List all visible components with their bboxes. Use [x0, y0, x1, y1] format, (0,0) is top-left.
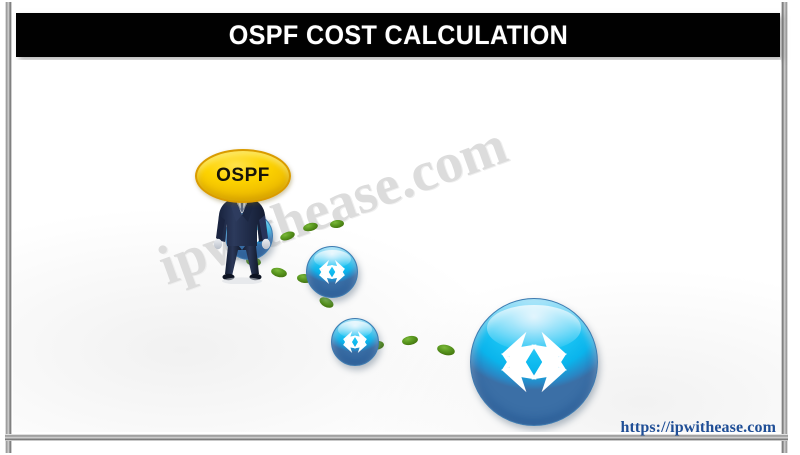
link-dot: [330, 219, 345, 228]
ospf-label-text: OSPF: [216, 165, 270, 187]
router-icon: [306, 246, 358, 298]
link-dot: [302, 221, 318, 232]
ospf-label-badge: OSPF: [195, 149, 291, 203]
router-icon: [470, 298, 598, 426]
slide-canvas: OSPF COST CALCULATION ipwithease.com OSP…: [0, 0, 800, 455]
frame-border-right: [781, 2, 788, 453]
diagram-area: ipwithease.com OSPF: [13, 60, 781, 432]
link-dot: [401, 335, 418, 347]
router-node-4[interactable]: [470, 298, 598, 426]
page-title: OSPF COST CALCULATION: [228, 20, 567, 51]
router-node-2[interactable]: [306, 246, 358, 298]
footer-url[interactable]: https://ipwithease.com: [620, 419, 776, 437]
router-node-3[interactable]: [331, 318, 379, 366]
router-icon: [331, 318, 379, 366]
link-dot: [436, 343, 456, 357]
title-banner: OSPF COST CALCULATION: [16, 13, 780, 57]
link-dot: [279, 230, 296, 242]
frame-border-left: [5, 2, 12, 453]
